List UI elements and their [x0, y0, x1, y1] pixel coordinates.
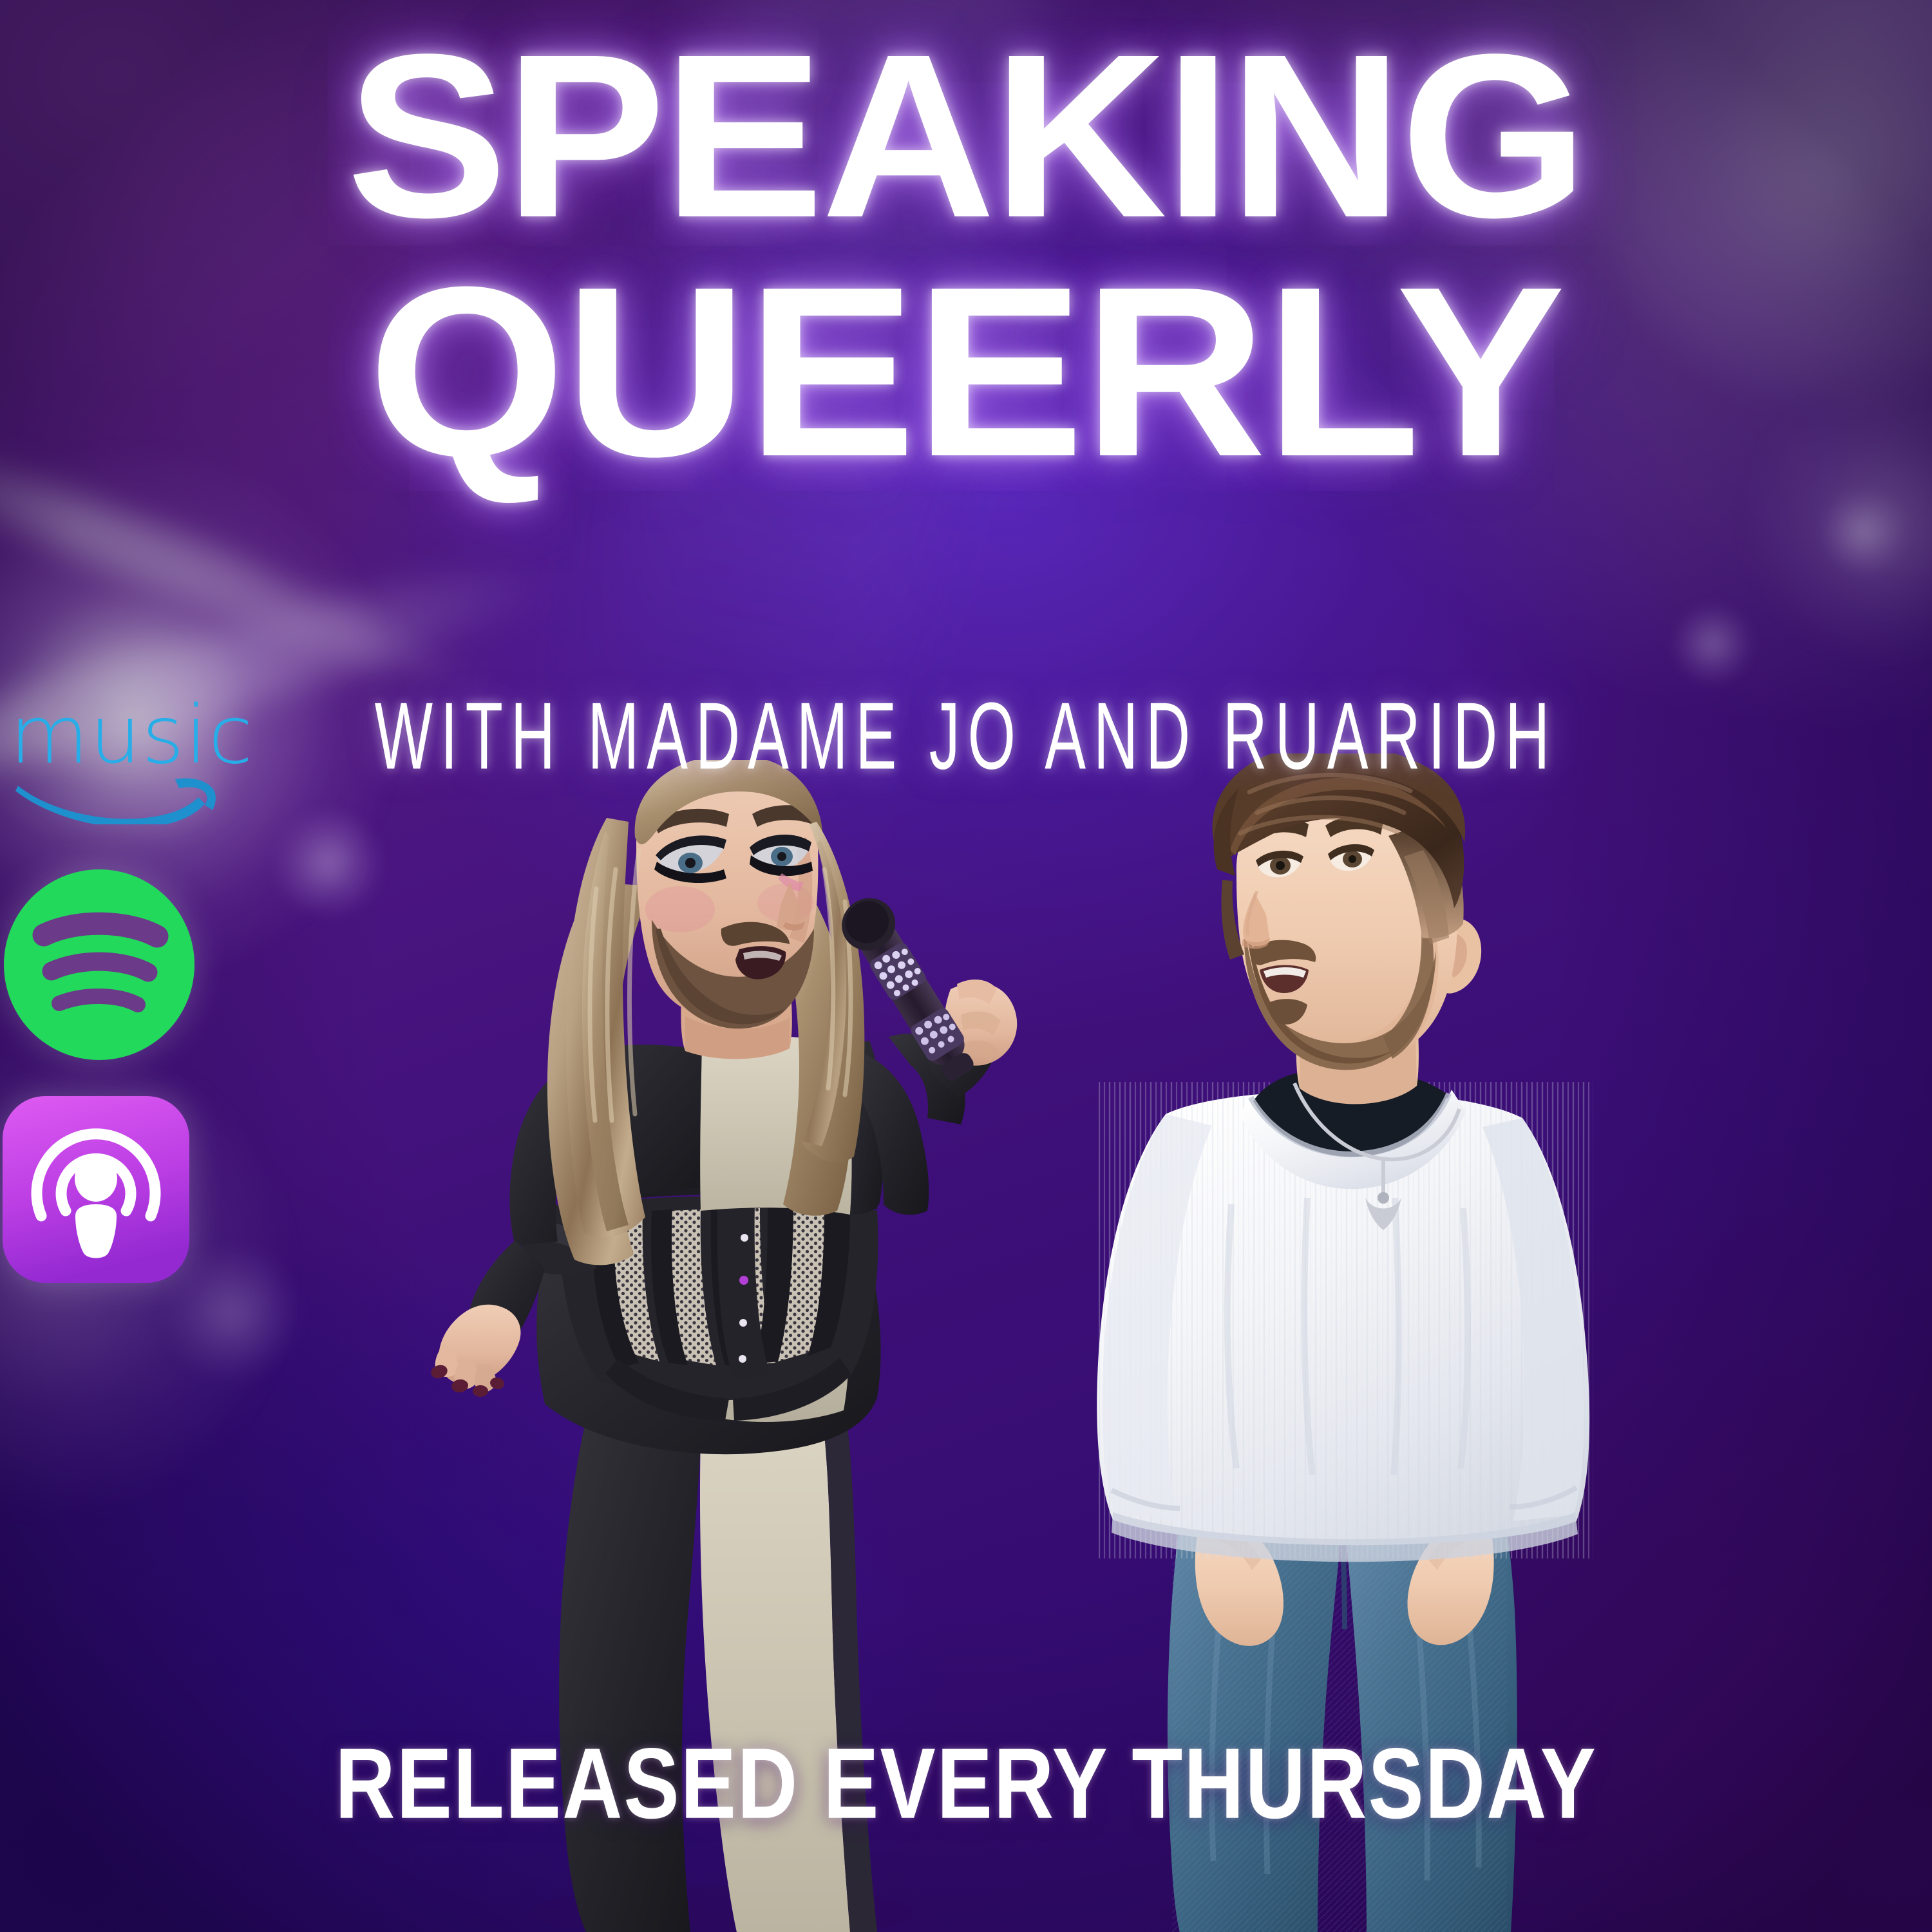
jo-left-leg [559, 1391, 702, 1932]
title-block: SPEAKING QUEERLY [0, 0, 1932, 484]
apple-podcasts-icon [3, 1096, 189, 1283]
spotify-icon [3, 868, 196, 1061]
spotify-badge[interactable] [3, 868, 196, 1061]
apple-podcasts-badge[interactable] [3, 1096, 189, 1283]
amazon-swoosh-icon [14, 775, 220, 824]
subtitle: WITH MADAME JO AND RUARIDH [77, 683, 1855, 791]
podcast-cover-art: music [0, 0, 1932, 1932]
title-line-one: SPEAKING [0, 28, 1932, 243]
jo-left-hand [430, 1305, 521, 1397]
title-line-two: QUEERLY [0, 261, 1932, 484]
amazon-music-badge[interactable]: music [12, 696, 224, 818]
release-schedule-text: RELEASED EVERY THURSDAY [19, 1726, 1913, 1841]
amazon-music-label: music [10, 696, 227, 775]
platform-badge-list: music [0, 696, 258, 1283]
